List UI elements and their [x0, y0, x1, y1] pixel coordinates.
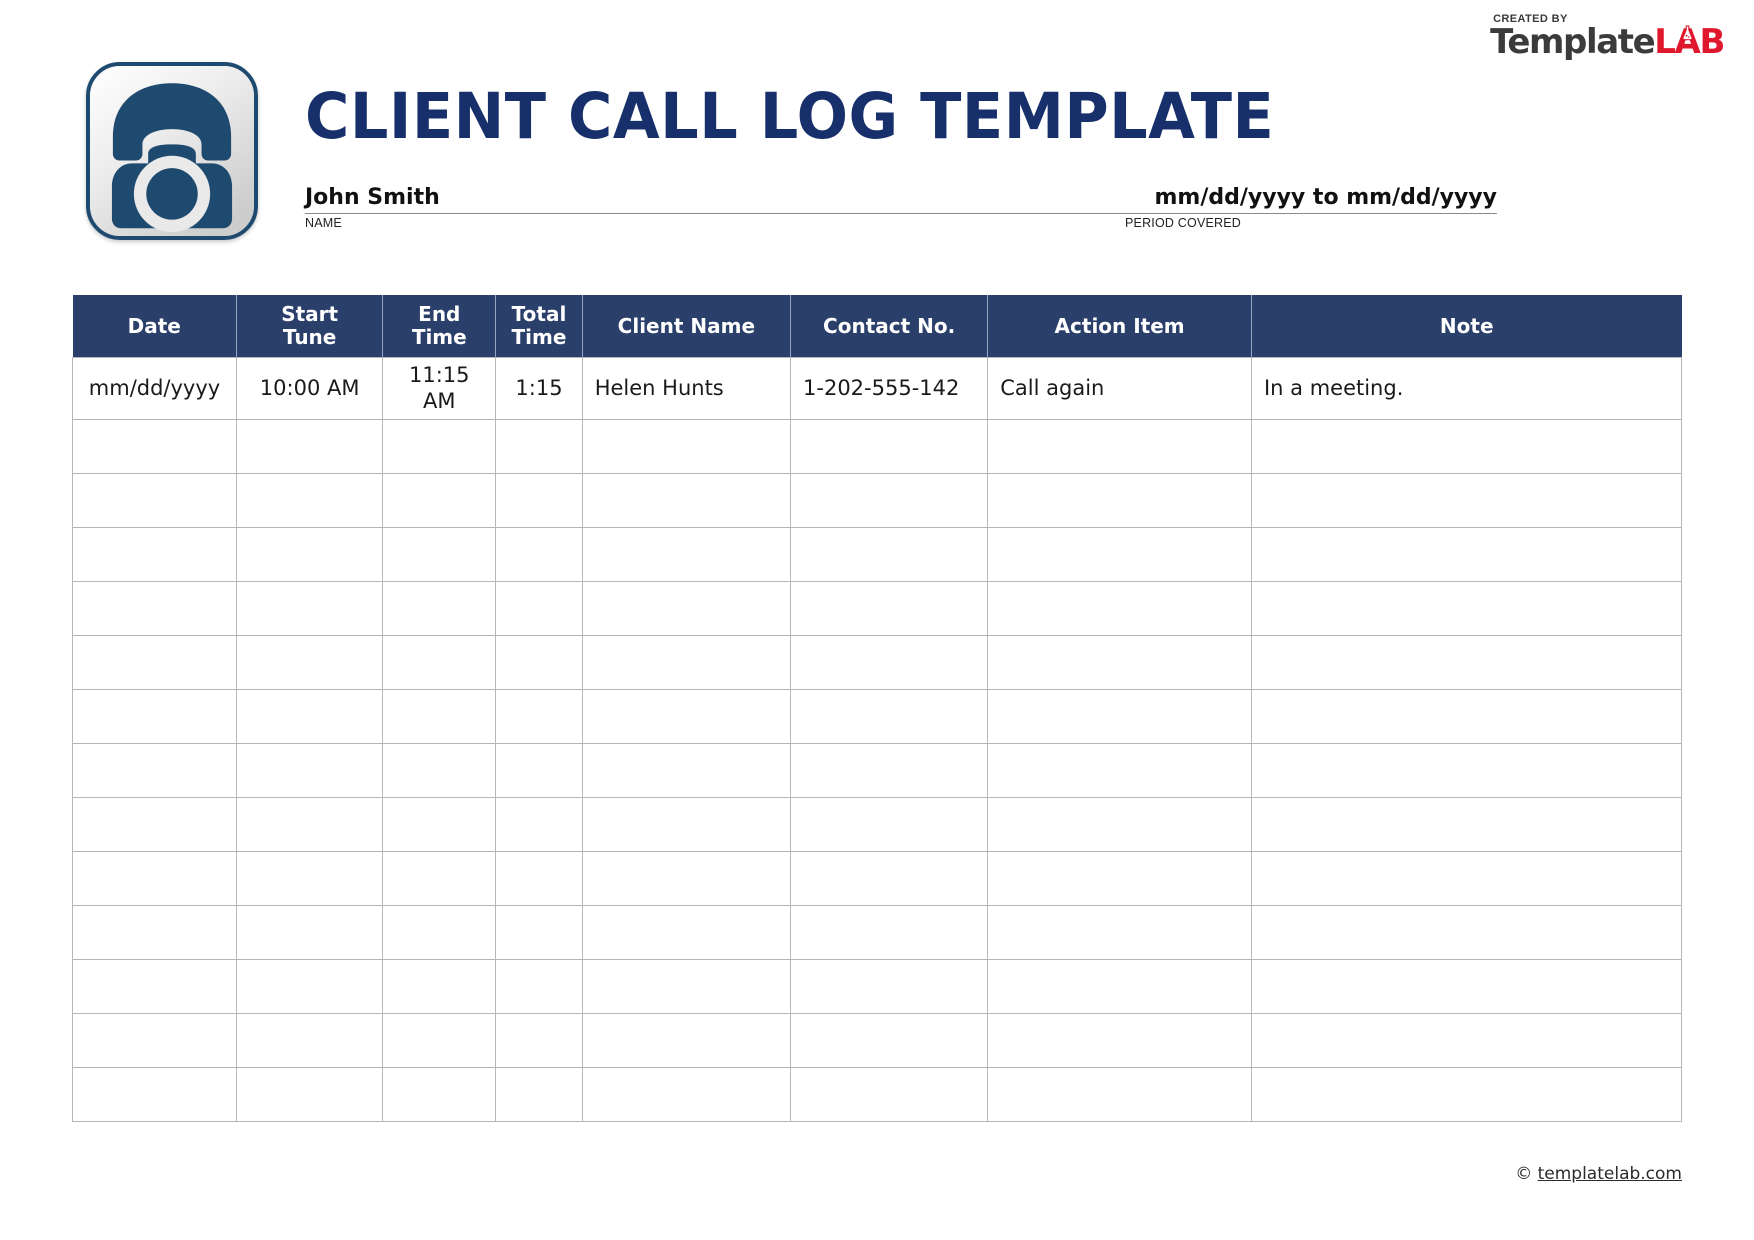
cell-total-time[interactable] [496, 635, 582, 689]
name-label: NAME [305, 216, 342, 230]
cell-action-item[interactable] [988, 905, 1252, 959]
cell-end-time[interactable] [383, 1013, 496, 1067]
table-row [73, 527, 1682, 581]
col-line: Action Item [1055, 314, 1185, 338]
copyright-symbol: © [1515, 1164, 1532, 1184]
table-row [73, 473, 1682, 527]
name-field[interactable]: John Smith NAME [305, 186, 1125, 214]
cell-contact-no[interactable] [791, 1067, 988, 1121]
page-title: CLIENT CALL LOG TEMPLATE [305, 80, 1274, 153]
cell-start-time[interactable] [237, 635, 383, 689]
cell-client-name[interactable] [582, 851, 790, 905]
cell-total-time[interactable] [496, 419, 582, 473]
table-body: mm/dd/yyyy10:00 AM11:15 AM1:15Helen Hunt… [73, 357, 1682, 1121]
cell-start-time[interactable] [237, 689, 383, 743]
table-row [73, 959, 1682, 1013]
cell-total-time[interactable] [496, 797, 582, 851]
templatelab-link[interactable]: templatelab.com [1538, 1164, 1682, 1184]
cell-end-time[interactable] [383, 689, 496, 743]
cell-date[interactable]: mm/dd/yyyy [73, 357, 237, 419]
cell-start-time[interactable] [237, 419, 383, 473]
cell-start-time[interactable] [237, 581, 383, 635]
cell-action-item[interactable] [988, 797, 1252, 851]
cell-start-time[interactable] [237, 527, 383, 581]
period-covered-value: mm/dd/yyyy to mm/dd/yyyy [1125, 186, 1497, 211]
cell-end-time[interactable]: 11:15 AM [383, 357, 496, 419]
cell-date[interactable] [73, 635, 237, 689]
cell-note[interactable] [1251, 959, 1681, 1013]
table-row [73, 1067, 1682, 1121]
column-header-action-item[interactable]: Action Item [988, 295, 1252, 357]
cell-action-item[interactable] [988, 581, 1252, 635]
column-header-end-time[interactable]: EndTime [383, 295, 496, 357]
cell-contact-no[interactable] [791, 419, 988, 473]
col-line: Total [512, 302, 567, 326]
cell-contact-no[interactable] [791, 797, 988, 851]
cell-action-item[interactable] [988, 419, 1252, 473]
table-header-row: Date StartTune EndTime TotalTime Client … [73, 295, 1682, 357]
cell-end-time[interactable] [383, 905, 496, 959]
cell-action-item[interactable] [988, 473, 1252, 527]
cell-action-item[interactable] [988, 743, 1252, 797]
col-line: End [418, 302, 460, 326]
cell-note[interactable] [1251, 797, 1681, 851]
cell-contact-no[interactable] [791, 959, 988, 1013]
cell-end-time[interactable] [383, 1067, 496, 1121]
cell-start-time[interactable] [237, 905, 383, 959]
table-row [73, 743, 1682, 797]
col-line: Time [412, 325, 467, 349]
cell-contact-no[interactable]: 1-202-555-142 [791, 357, 988, 419]
cell-start-time[interactable] [237, 959, 383, 1013]
cell-date[interactable] [73, 1067, 237, 1121]
cell-start-time[interactable] [237, 851, 383, 905]
cell-date[interactable] [73, 419, 237, 473]
brand-lab-text: LAB [1654, 22, 1724, 62]
templatelab-logo: CREATED BY TemplateLAB [1490, 14, 1724, 58]
cell-action-item[interactable] [988, 689, 1252, 743]
cell-client-name[interactable] [582, 527, 790, 581]
cell-date[interactable] [73, 905, 237, 959]
table-row [73, 1013, 1682, 1067]
cell-action-item[interactable] [988, 1067, 1252, 1121]
cell-action-item[interactable] [988, 527, 1252, 581]
telephone-glyph [90, 66, 254, 236]
cell-action-item[interactable] [988, 851, 1252, 905]
cell-note[interactable] [1251, 527, 1681, 581]
cell-contact-no[interactable] [791, 689, 988, 743]
cell-note[interactable] [1251, 743, 1681, 797]
col-line: Contact No. [823, 314, 955, 338]
cell-end-time[interactable] [383, 419, 496, 473]
cell-contact-no[interactable] [791, 473, 988, 527]
telephone-icon [86, 62, 258, 240]
cell-total-time[interactable] [496, 959, 582, 1013]
cell-total-time[interactable] [496, 581, 582, 635]
cell-client-name[interactable] [582, 419, 790, 473]
cell-client-name[interactable] [582, 473, 790, 527]
cell-contact-no[interactable] [791, 581, 988, 635]
cell-note[interactable] [1251, 689, 1681, 743]
cell-date[interactable] [73, 959, 237, 1013]
cell-contact-no[interactable] [791, 635, 988, 689]
cell-note[interactable] [1251, 851, 1681, 905]
cell-client-name[interactable] [582, 797, 790, 851]
cell-date[interactable] [73, 797, 237, 851]
cell-date[interactable] [73, 581, 237, 635]
cell-client-name[interactable] [582, 1067, 790, 1121]
cell-note[interactable]: In a meeting. [1251, 357, 1681, 419]
cell-end-time[interactable] [383, 959, 496, 1013]
cell-client-name[interactable] [582, 743, 790, 797]
table-row [73, 797, 1682, 851]
cell-contact-no[interactable] [791, 905, 988, 959]
cell-total-time[interactable] [496, 473, 582, 527]
table-row [73, 635, 1682, 689]
cell-start-time[interactable] [237, 743, 383, 797]
table-row [73, 905, 1682, 959]
flask-icon [1681, 25, 1694, 41]
cell-start-time[interactable] [237, 473, 383, 527]
cell-action-item[interactable]: Call again [988, 357, 1252, 419]
col-line: Client Name [618, 314, 755, 338]
cell-end-time[interactable] [383, 797, 496, 851]
call-log-table: Date StartTune EndTime TotalTime Client … [72, 295, 1682, 1122]
brand-template-text: Template [1490, 22, 1654, 62]
cell-note[interactable] [1251, 1013, 1681, 1067]
cell-start-time[interactable] [237, 797, 383, 851]
cell-client-name[interactable] [582, 1013, 790, 1067]
column-header-client-name[interactable]: Client Name [582, 295, 790, 357]
cell-note[interactable] [1251, 635, 1681, 689]
cell-start-time[interactable]: 10:00 AM [237, 357, 383, 419]
table-row [73, 419, 1682, 473]
cell-client-name[interactable] [582, 905, 790, 959]
cell-total-time[interactable] [496, 851, 582, 905]
cell-end-time[interactable] [383, 635, 496, 689]
cell-client-name[interactable] [582, 959, 790, 1013]
table-row [73, 689, 1682, 743]
client-call-log-page: CREATED BY TemplateLAB CLIENT CALL LOG T… [0, 0, 1754, 1240]
cell-client-name[interactable] [582, 689, 790, 743]
col-line: Date [128, 314, 181, 338]
column-header-date[interactable]: Date [73, 295, 237, 357]
cell-date[interactable] [73, 689, 237, 743]
table-row [73, 581, 1682, 635]
cell-total-time[interactable] [496, 743, 582, 797]
cell-client-name[interactable]: Helen Hunts [582, 357, 790, 419]
cell-contact-no[interactable] [791, 743, 988, 797]
cell-end-time[interactable] [383, 473, 496, 527]
cell-note[interactable] [1251, 581, 1681, 635]
period-covered-label: PERIOD COVERED [1125, 216, 1241, 230]
cell-total-time[interactable] [496, 689, 582, 743]
cell-action-item[interactable] [988, 635, 1252, 689]
cell-total-time[interactable] [496, 527, 582, 581]
cell-end-time[interactable] [383, 581, 496, 635]
cell-contact-no[interactable] [791, 1013, 988, 1067]
meta-fields: John Smith NAME mm/dd/yyyy to mm/dd/yyyy… [305, 186, 1497, 214]
cell-action-item[interactable] [988, 959, 1252, 1013]
cell-start-time[interactable] [237, 1013, 383, 1067]
cell-contact-no[interactable] [791, 851, 988, 905]
footer-copyright: © templatelab.com [1515, 1164, 1682, 1184]
cell-start-time[interactable] [237, 1067, 383, 1121]
col-line: Start [281, 302, 338, 326]
cell-date[interactable] [73, 851, 237, 905]
cell-note[interactable] [1251, 419, 1681, 473]
cell-total-time[interactable] [496, 1013, 582, 1067]
col-line: Time [512, 325, 567, 349]
cell-client-name[interactable] [582, 581, 790, 635]
cell-end-time[interactable] [383, 851, 496, 905]
col-line: Tune [283, 325, 337, 349]
cell-contact-no[interactable] [791, 527, 988, 581]
cell-date[interactable] [73, 473, 237, 527]
cell-date[interactable] [73, 743, 237, 797]
cell-note[interactable] [1251, 905, 1681, 959]
table-row: mm/dd/yyyy10:00 AM11:15 AM1:15Helen Hunt… [73, 357, 1682, 419]
cell-end-time[interactable] [383, 743, 496, 797]
cell-action-item[interactable] [988, 1013, 1252, 1067]
name-value: John Smith [305, 186, 1125, 211]
table-row [73, 851, 1682, 905]
column-header-start-time[interactable]: StartTune [237, 295, 383, 357]
cell-total-time[interactable] [496, 1067, 582, 1121]
cell-date[interactable] [73, 527, 237, 581]
column-header-note[interactable]: Note [1251, 295, 1681, 357]
col-line: Note [1440, 314, 1494, 338]
brand-wordmark: TemplateLAB [1490, 26, 1724, 58]
column-header-contact-no[interactable]: Contact No. [791, 295, 988, 357]
cell-end-time[interactable] [383, 527, 496, 581]
period-covered-field[interactable]: mm/dd/yyyy to mm/dd/yyyy PERIOD COVERED [1125, 186, 1497, 214]
cell-date[interactable] [73, 1013, 237, 1067]
cell-note[interactable] [1251, 1067, 1681, 1121]
column-header-total-time[interactable]: TotalTime [496, 295, 582, 357]
cell-total-time[interactable]: 1:15 [496, 357, 582, 419]
cell-note[interactable] [1251, 473, 1681, 527]
cell-client-name[interactable] [582, 635, 790, 689]
cell-total-time[interactable] [496, 905, 582, 959]
